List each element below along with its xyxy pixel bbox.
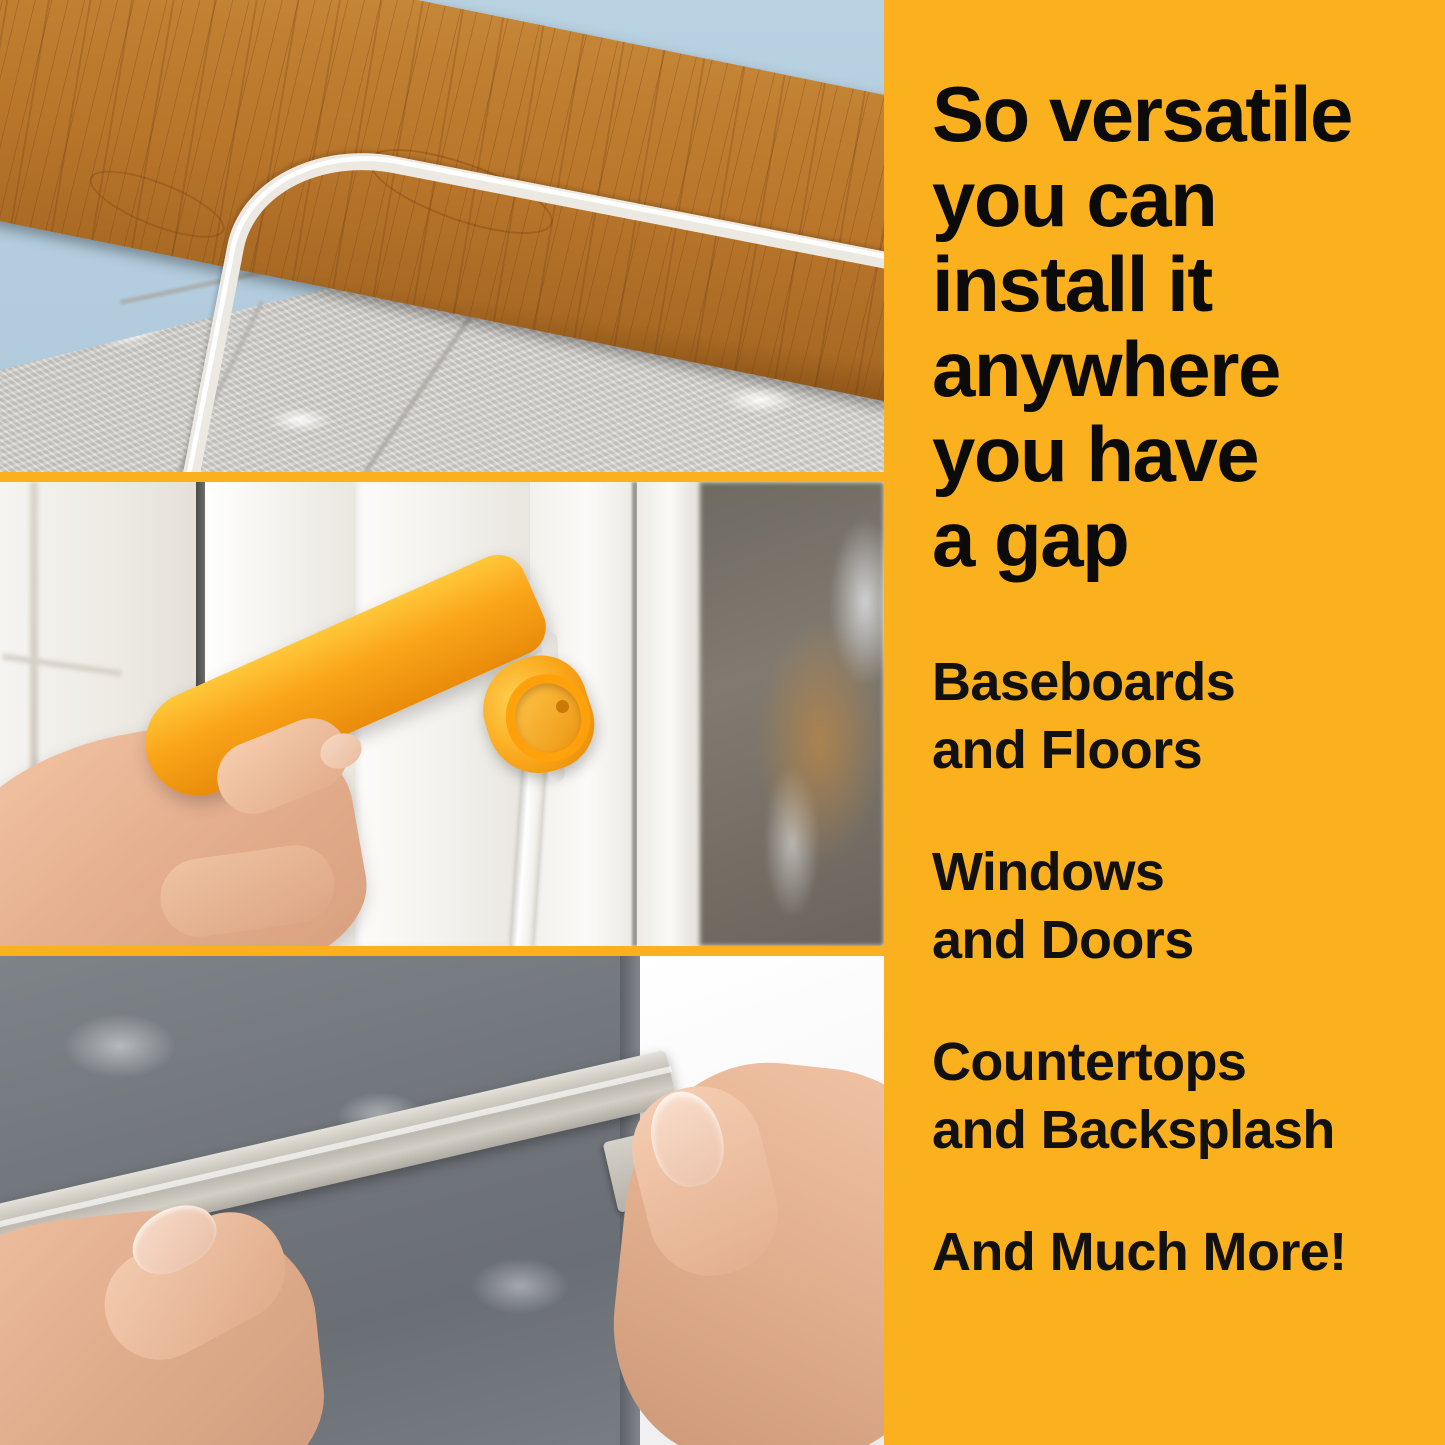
headline: So versatile you can install it anywhere… (932, 72, 1432, 582)
text-panel: So versatile you can install it anywhere… (884, 0, 1445, 1445)
window-frame-panel (637, 482, 703, 946)
product-feature-poster: So versatile you can install it anywhere… (0, 0, 1445, 1445)
wood-grain-knot (82, 157, 232, 251)
feature-list: Baseboards and Floors Windows and Doors … (932, 648, 1432, 1286)
glass-pane (700, 482, 884, 946)
baseboard-and-floor-photo (0, 0, 884, 472)
photo-column (0, 0, 884, 1445)
feature-list-item-baseboards: Baseboards and Floors (932, 648, 1432, 784)
countertop-and-backsplash-photo (0, 956, 884, 1445)
photo-divider (0, 472, 884, 482)
photo-divider (0, 946, 884, 956)
feature-list-item-and-much-more: And Much More! (932, 1218, 1432, 1286)
applicator-tool-hole (556, 700, 569, 713)
feature-list-item-countertops: Countertops and Backsplash (932, 1028, 1432, 1164)
window-and-door-photo (0, 482, 884, 946)
feature-list-item-windows: Windows and Doors (932, 838, 1432, 974)
